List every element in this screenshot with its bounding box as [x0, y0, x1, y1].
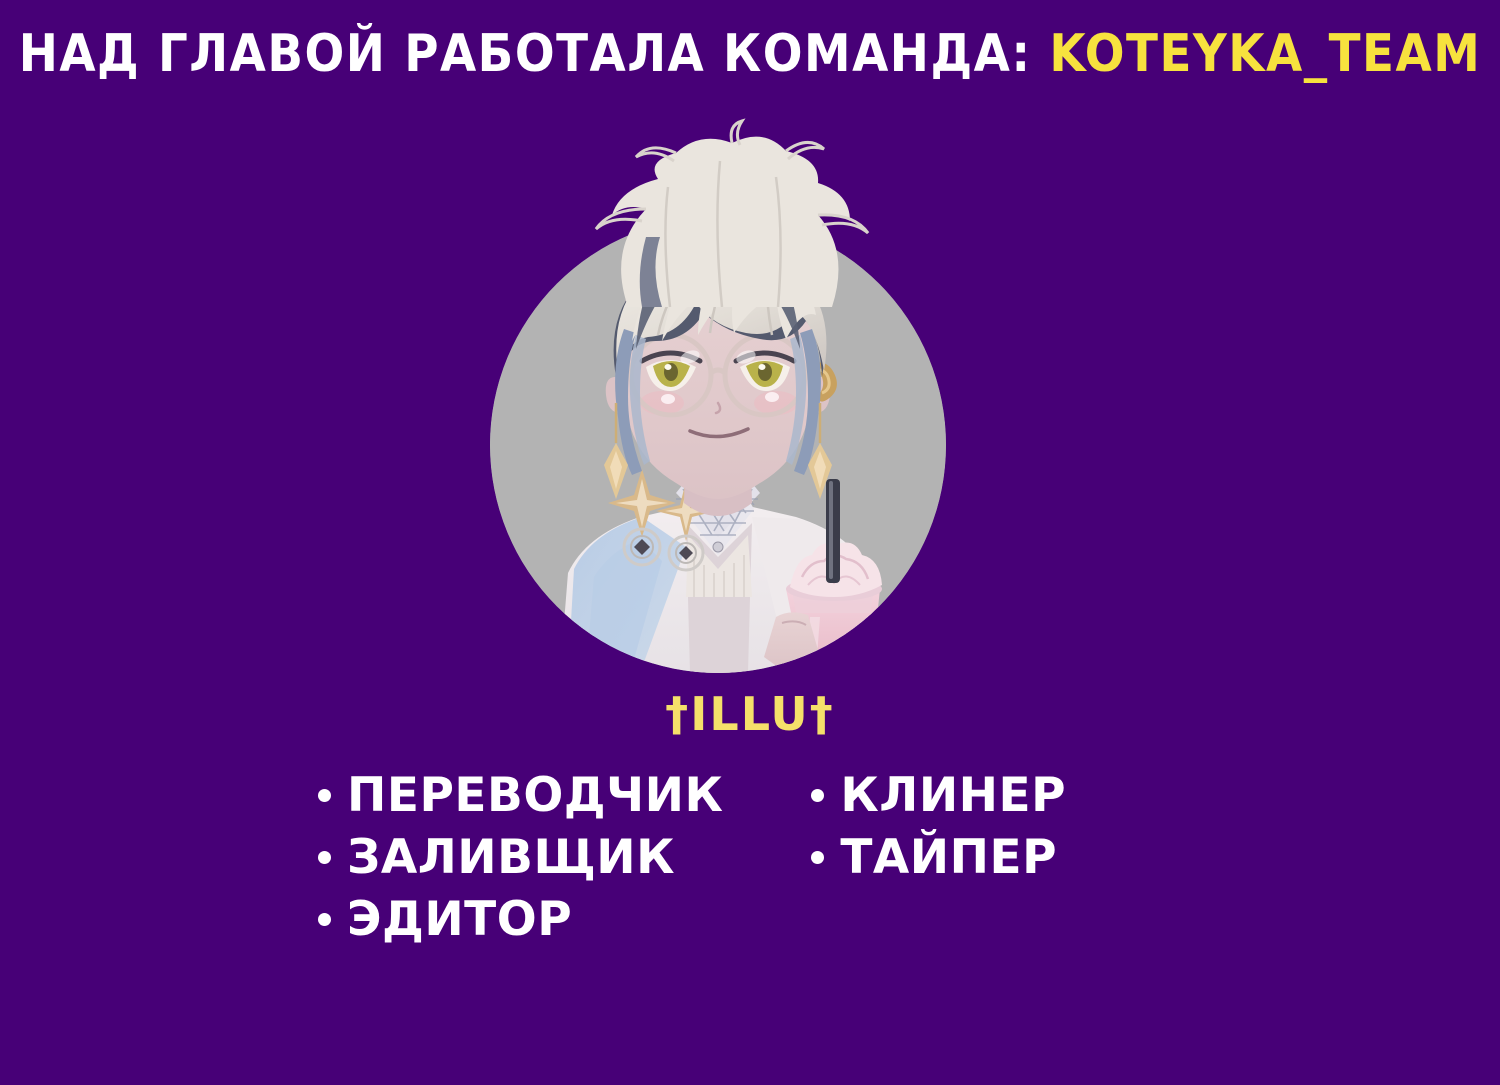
bullet-icon	[318, 913, 331, 926]
title-prefix-text: НАД ГЛАВОЙ РАБОТАЛА КОМАНДА:	[19, 24, 1032, 84]
role-label: ПЕРЕВОДЧИК	[347, 772, 723, 819]
roles-list: ПЕРЕВОДЧИК ЗАЛИВЩИК ЭДИТОР КЛИНЕР ТАЙПЕР	[318, 766, 1218, 948]
team-name-text: KOTEYKA_TEAM	[1049, 24, 1481, 84]
bullet-icon	[811, 789, 824, 802]
roles-column-left: ПЕРЕВОДЧИК ЗАЛИВЩИК ЭДИТОР	[318, 766, 723, 948]
role-label: ЭДИТОР	[347, 896, 572, 943]
bullet-icon	[318, 789, 331, 802]
list-item: ЗАЛИВЩИК	[318, 828, 723, 886]
list-item: КЛИНЕР	[811, 766, 1066, 824]
role-label: ТАЙПЕР	[840, 834, 1057, 881]
page-title: НАД ГЛАВОЙ РАБОТАЛА КОМАНДА: KOTEYKA_TEA…	[0, 28, 1500, 80]
credits-page: НАД ГЛАВОЙ РАБОТАЛА КОМАНДА: KOTEYKA_TEA…	[0, 0, 1500, 1085]
nickname: †ILLU†	[0, 687, 1500, 741]
roles-column-right: КЛИНЕР ТАЙПЕР	[811, 766, 1066, 886]
role-label: КЛИНЕР	[840, 772, 1066, 819]
list-item: ПЕРЕВОДЧИК	[318, 766, 723, 824]
list-item: ЭДИТОР	[318, 890, 723, 948]
list-item: ТАЙПЕР	[811, 828, 1066, 886]
avatar-disc	[490, 217, 946, 673]
avatar-character-illustration	[490, 217, 946, 673]
avatar-image-clip	[490, 217, 946, 673]
role-label: ЗАЛИВЩИК	[347, 834, 675, 881]
avatar	[490, 217, 946, 673]
bullet-icon	[318, 851, 331, 864]
bullet-icon	[811, 851, 824, 864]
